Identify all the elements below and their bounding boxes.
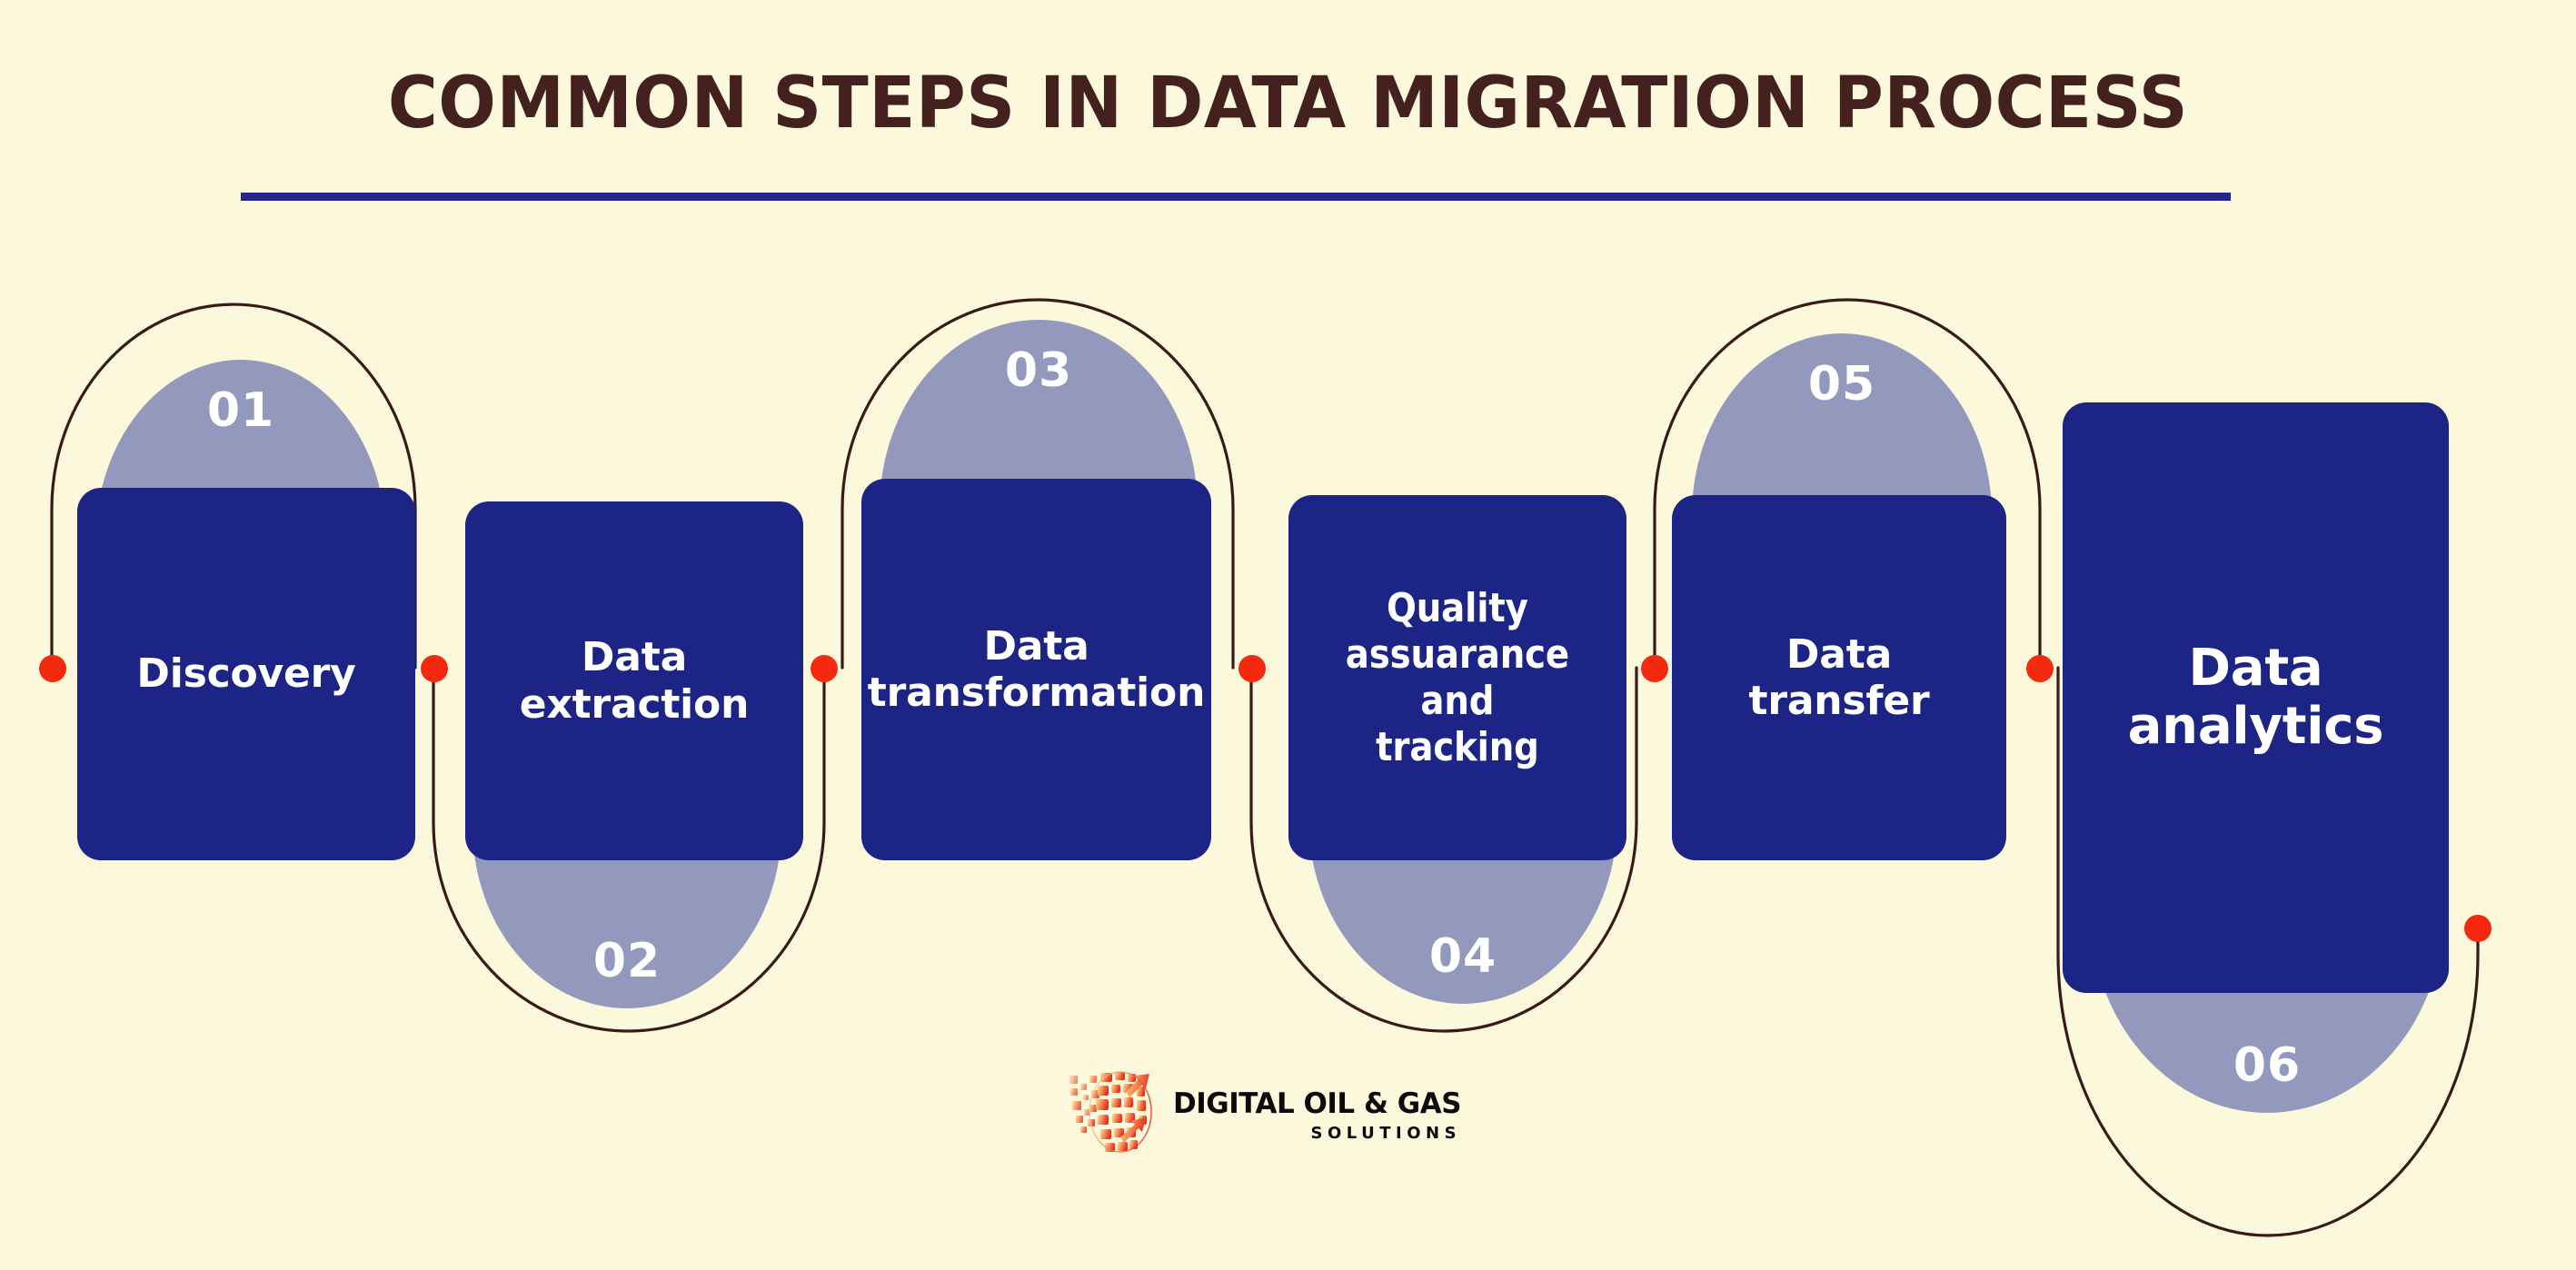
infographic-canvas: COMMON STEPS IN DATA MIGRATION PROCESS 0… bbox=[0, 0, 2576, 1270]
step-1-card[interactable]: Discovery bbox=[77, 488, 415, 860]
step-5-card[interactable]: Data transfer bbox=[1672, 495, 2006, 860]
connector-dot-3-4 bbox=[1238, 655, 1266, 682]
logo-subtitle: SOLUTIONS bbox=[1173, 1126, 1461, 1142]
connector-dot-2-3 bbox=[811, 655, 838, 682]
step-4-card[interactable]: Quality assuarance and tracking bbox=[1288, 495, 1626, 860]
step-2-number: 02 bbox=[593, 934, 661, 988]
step-5-label: Data transfer bbox=[1748, 631, 1929, 724]
step-3-number: 03 bbox=[1005, 343, 1072, 398]
logo-name: DIGITAL OIL & GAS bbox=[1173, 1090, 1461, 1118]
step-1-label: Discovery bbox=[136, 650, 355, 697]
connector-dot-end bbox=[2464, 915, 2491, 942]
step-2-card[interactable]: Data extraction bbox=[465, 501, 803, 860]
step-3-card[interactable]: Data transformation bbox=[861, 479, 1211, 860]
step-6-number: 06 bbox=[2233, 1038, 2301, 1093]
connector-dot-start bbox=[39, 655, 66, 682]
step-4-label: Quality assuarance and tracking bbox=[1346, 585, 1569, 770]
step-6-card[interactable]: Data analytics bbox=[2063, 402, 2449, 993]
brand-logo: DIGITAL OIL & GAS SOLUTIONS bbox=[1068, 1061, 1413, 1170]
step-4-number: 04 bbox=[1429, 929, 1497, 984]
connector-dot-4-5 bbox=[1641, 655, 1668, 682]
connector-dot-5-6 bbox=[2026, 655, 2054, 682]
step-1-number: 01 bbox=[207, 383, 274, 438]
logo-wordmark: DIGITAL OIL & GAS SOLUTIONS bbox=[1173, 1090, 1461, 1142]
pixelated-globe-icon bbox=[1068, 1065, 1169, 1166]
step-5-number: 05 bbox=[1808, 357, 1875, 412]
step-3-label: Data transformation bbox=[868, 623, 1205, 716]
step-2-label: Data extraction bbox=[520, 634, 749, 727]
connector-dot-1-2 bbox=[421, 655, 448, 682]
step-6-label: Data analytics bbox=[2128, 640, 2384, 756]
